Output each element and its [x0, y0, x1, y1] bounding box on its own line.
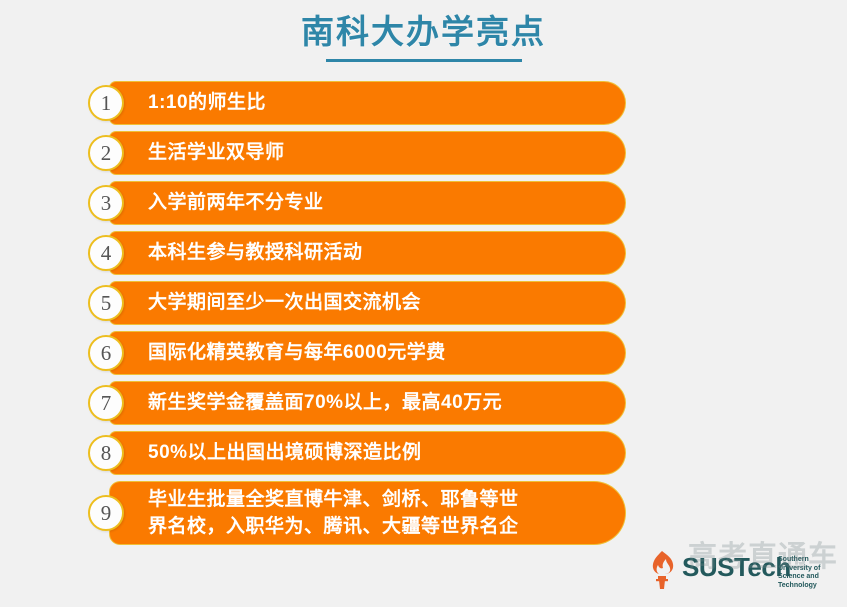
highlight-number-badge: 6 — [88, 335, 124, 371]
torch-icon — [648, 550, 676, 590]
highlight-number: 9 — [101, 503, 112, 524]
highlight-number: 5 — [101, 293, 112, 314]
highlight-row: 大学期间至少一次出国交流机会5 — [88, 282, 847, 324]
highlight-label: 国际化精英教育与每年6000元学费 — [148, 332, 446, 374]
highlight-number-badge: 2 — [88, 135, 124, 171]
highlight-number: 8 — [101, 443, 112, 464]
highlight-number: 3 — [101, 193, 112, 214]
logo-wordmark: SUSTech — [682, 552, 791, 582]
highlight-label: 毕业生批量全奖直博牛津、剑桥、耶鲁等世 界名校，入职华为、腾讯、大疆等世界名企 — [148, 482, 519, 544]
highlight-number-badge: 1 — [88, 85, 124, 121]
highlight-row: 1:10的师生比1 — [88, 82, 847, 124]
highlight-label: 新生奖学金覆盖面70%以上，最高40万元 — [148, 382, 502, 424]
highlight-number: 4 — [101, 243, 112, 264]
logo-subtitle: Southern University of Science and Techn… — [778, 556, 840, 590]
highlight-row: 生活学业双导师2 — [88, 132, 847, 174]
highlight-number: 7 — [101, 393, 112, 414]
highlight-label: 生活学业双导师 — [148, 132, 285, 174]
header: 南科大办学亮点 — [0, 0, 847, 62]
highlight-row: 本科生参与教授科研活动4 — [88, 232, 847, 274]
highlight-number-badge: 8 — [88, 435, 124, 471]
highlight-number: 6 — [101, 343, 112, 364]
highlight-number-badge: 7 — [88, 385, 124, 421]
sustech-logo: SUSTech Southern University of Science a… — [648, 548, 838, 594]
highlight-label: 本科生参与教授科研活动 — [148, 232, 363, 274]
highlight-number: 1 — [101, 93, 112, 114]
highlight-row: 50%以上出国出境硕博深造比例8 — [88, 432, 847, 474]
highlight-number-badge: 9 — [88, 495, 124, 531]
highlight-row: 毕业生批量全奖直博牛津、剑桥、耶鲁等世 界名校，入职华为、腾讯、大疆等世界名企9 — [88, 482, 847, 544]
highlight-number-badge: 5 — [88, 285, 124, 321]
highlight-row: 国际化精英教育与每年6000元学费6 — [88, 332, 847, 374]
page-title: 南科大办学亮点 — [0, 12, 847, 52]
highlight-row: 入学前两年不分专业3 — [88, 182, 847, 224]
highlight-row: 新生奖学金覆盖面70%以上，最高40万元7 — [88, 382, 847, 424]
highlight-label: 50%以上出国出境硕博深造比例 — [148, 432, 422, 474]
highlight-label: 大学期间至少一次出国交流机会 — [148, 282, 421, 324]
title-underline-divider — [326, 59, 522, 62]
highlight-label: 1:10的师生比 — [148, 82, 266, 124]
highlight-number: 2 — [101, 143, 112, 164]
highlight-label: 入学前两年不分专业 — [148, 182, 324, 224]
highlight-number-badge: 4 — [88, 235, 124, 271]
highlights-list: 1:10的师生比1生活学业双导师2入学前两年不分专业3本科生参与教授科研活动4大… — [0, 82, 847, 544]
highlight-number-badge: 3 — [88, 185, 124, 221]
